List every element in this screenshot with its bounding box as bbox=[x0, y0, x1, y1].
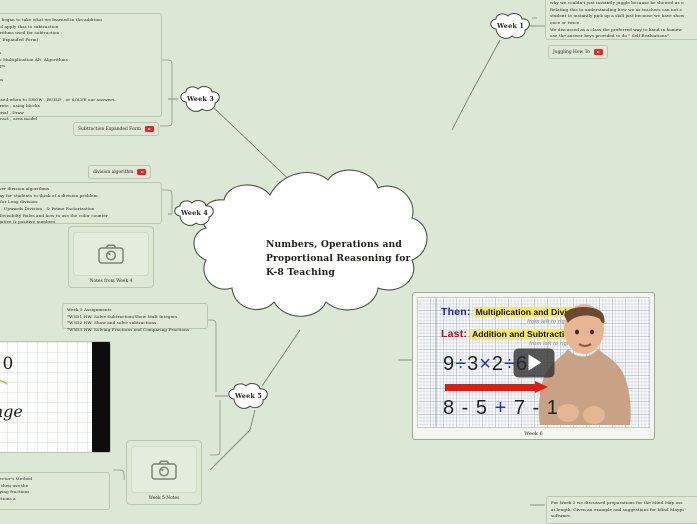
note-line: ses for negative & positive numbers bbox=[0, 219, 157, 226]
week-bubble-week3[interactable]: Week 3 bbox=[177, 85, 224, 113]
note-line: OW= Pictorial , Draw bbox=[0, 110, 157, 117]
video-thumbnail[interactable]: Then: Multiplication and Division from l… bbox=[417, 297, 650, 428]
note-line: tice bbox=[0, 90, 157, 97]
chip-subtraction-expanded-form[interactable]: Subtraction Expanded Form bbox=[73, 122, 159, 136]
note-line: arned the Divisibilty Rules and how to u… bbox=[0, 213, 157, 220]
note-line: We discussed as a class the preferred wa… bbox=[550, 27, 697, 34]
week-bubble-week4[interactable]: Week 4 bbox=[171, 199, 218, 227]
camera-icon bbox=[98, 244, 124, 264]
central-title-line-3: K-8 Teaching bbox=[266, 266, 438, 280]
note-line: t to right bbox=[0, 83, 157, 90]
youtube-icon[interactable] bbox=[145, 126, 154, 133]
note-line: at length. Given an example and suggesti… bbox=[551, 507, 697, 514]
note-line: al Addends bbox=[0, 50, 157, 57]
photo-caption: Notes from Week 4 bbox=[90, 279, 133, 284]
note-week4-division[interactable]: we went over division algorithms the bes… bbox=[0, 182, 162, 224]
note-line: *W5D1 HW: Solve Subtraction/Show Mult In… bbox=[67, 314, 203, 321]
note-line: *W5D3 HW: Solving Fractions and Comparin… bbox=[67, 327, 203, 334]
thumb-border bbox=[417, 297, 650, 428]
note-line: anded Form bbox=[0, 77, 157, 84]
note-week1-right[interactable]: why we couldn't just instantly juggle be… bbox=[545, 0, 697, 40]
note-week3-subtraction[interactable]: Week 3 we began to take what we learned … bbox=[0, 13, 162, 117]
video-card-week6[interactable]: Then: Multiplication and Division from l… bbox=[412, 292, 655, 440]
video-caption: Week 6 bbox=[417, 428, 650, 437]
note-line: verse for Hector's Method bbox=[0, 476, 105, 483]
note-line: use the answer keys provided to do " Sel… bbox=[550, 33, 697, 40]
youtube-icon[interactable] bbox=[594, 49, 603, 56]
note-line: student to instantly pick up a skill jus… bbox=[550, 13, 697, 20]
note-line: ns , multiplying fractions bbox=[0, 489, 105, 496]
whiteboard-image-week5[interactable]: = 10 hange bbox=[0, 341, 111, 453]
note-line: Week 5 Assignments bbox=[67, 307, 203, 314]
chip-juggling-how-to[interactable]: Juggling How To bbox=[548, 45, 608, 59]
whiteboard-dark-edge bbox=[92, 342, 110, 452]
photo-frame bbox=[131, 446, 197, 493]
week-bubble-label: Week 4 bbox=[181, 209, 208, 217]
whiteboard-text-equals: = 10 bbox=[0, 354, 14, 374]
note-line: orithms and apply that to subtraction bbox=[0, 24, 157, 31]
note-line: For Week 2 we discussed preparations for… bbox=[551, 500, 697, 507]
note-line: why we couldn't just instantly juggle be… bbox=[550, 0, 697, 7]
note-line: ubtraction , Upwards Division , & Prime … bbox=[0, 206, 157, 213]
week-bubble-label: Week 5 bbox=[235, 392, 262, 400]
note-line: *W5D2 HW: Show and solve subtractions bbox=[67, 320, 203, 327]
note-line: Relating this to understanding how we as… bbox=[550, 7, 697, 14]
note-line: omposing ( Expanded Form) bbox=[0, 37, 157, 44]
mindmap-canvas[interactable]: Numbers, Operations and Proportional Rea… bbox=[0, 0, 697, 520]
note-line: software. bbox=[551, 513, 697, 520]
note-line: Week 3 we began to take what we learned … bbox=[0, 17, 157, 24]
note-line: ild = Concrete , using blocks bbox=[0, 103, 157, 110]
photo-frame bbox=[73, 232, 149, 276]
week-bubble-week5[interactable]: Week 5 bbox=[225, 382, 272, 410]
chip-label: Juggling How To bbox=[553, 50, 590, 55]
note-line: also discussed when to SHOW , BUILD , or… bbox=[0, 97, 157, 104]
note-line: the best way for students to think of a … bbox=[0, 193, 157, 200]
note-line: we went over division algorithms bbox=[0, 186, 157, 193]
note-line: rnate Algorithms used for subtraction : bbox=[0, 30, 157, 37]
chip-division-algorithm[interactable]: division algorithm bbox=[88, 165, 151, 179]
note-line: t to Right bbox=[0, 44, 157, 51]
week-bubble-week1[interactable]: Week 1 bbox=[487, 12, 534, 40]
note-line: ternatives for Long division: bbox=[0, 199, 157, 206]
photo-card-notes-week-4[interactable]: Notes from Week 4 bbox=[68, 226, 154, 288]
note-week5-assignments[interactable]: Week 5 Assignments *W5D1 HW: Solve Subtr… bbox=[62, 303, 208, 329]
photo-card-week-5-notes[interactable]: Week 5 Notes bbox=[126, 440, 202, 505]
youtube-icon[interactable] bbox=[137, 169, 146, 176]
note-line: on we must then use the bbox=[0, 483, 105, 490]
note-line: tion for fractions a bbox=[0, 496, 105, 503]
whiteboard-text-change: hange bbox=[0, 402, 23, 421]
photo-caption: Week 5 Notes bbox=[149, 496, 180, 501]
note-bottom-left[interactable]: verse for Hector's Method on we must the… bbox=[0, 472, 110, 510]
week-bubble-label: Week 1 bbox=[497, 22, 524, 30]
note-line: oduction to Multiplication Alt. Algorith… bbox=[0, 57, 157, 64]
central-title-line-2: Proportional Reasoning for bbox=[266, 252, 438, 266]
note-line: a Model bbox=[0, 70, 157, 77]
week-bubble-label: Week 3 bbox=[187, 95, 214, 103]
chip-label: division algorithm bbox=[93, 170, 133, 175]
chip-label: Subtraction Expanded Form bbox=[78, 127, 141, 132]
note-line: once or twice. bbox=[550, 20, 697, 27]
central-title-line-1: Numbers, Operations and bbox=[266, 238, 438, 252]
central-title: Numbers, Operations and Proportional Rea… bbox=[266, 238, 438, 280]
camera-icon bbox=[151, 460, 177, 480]
note-line: ay or Groups bbox=[0, 63, 157, 70]
